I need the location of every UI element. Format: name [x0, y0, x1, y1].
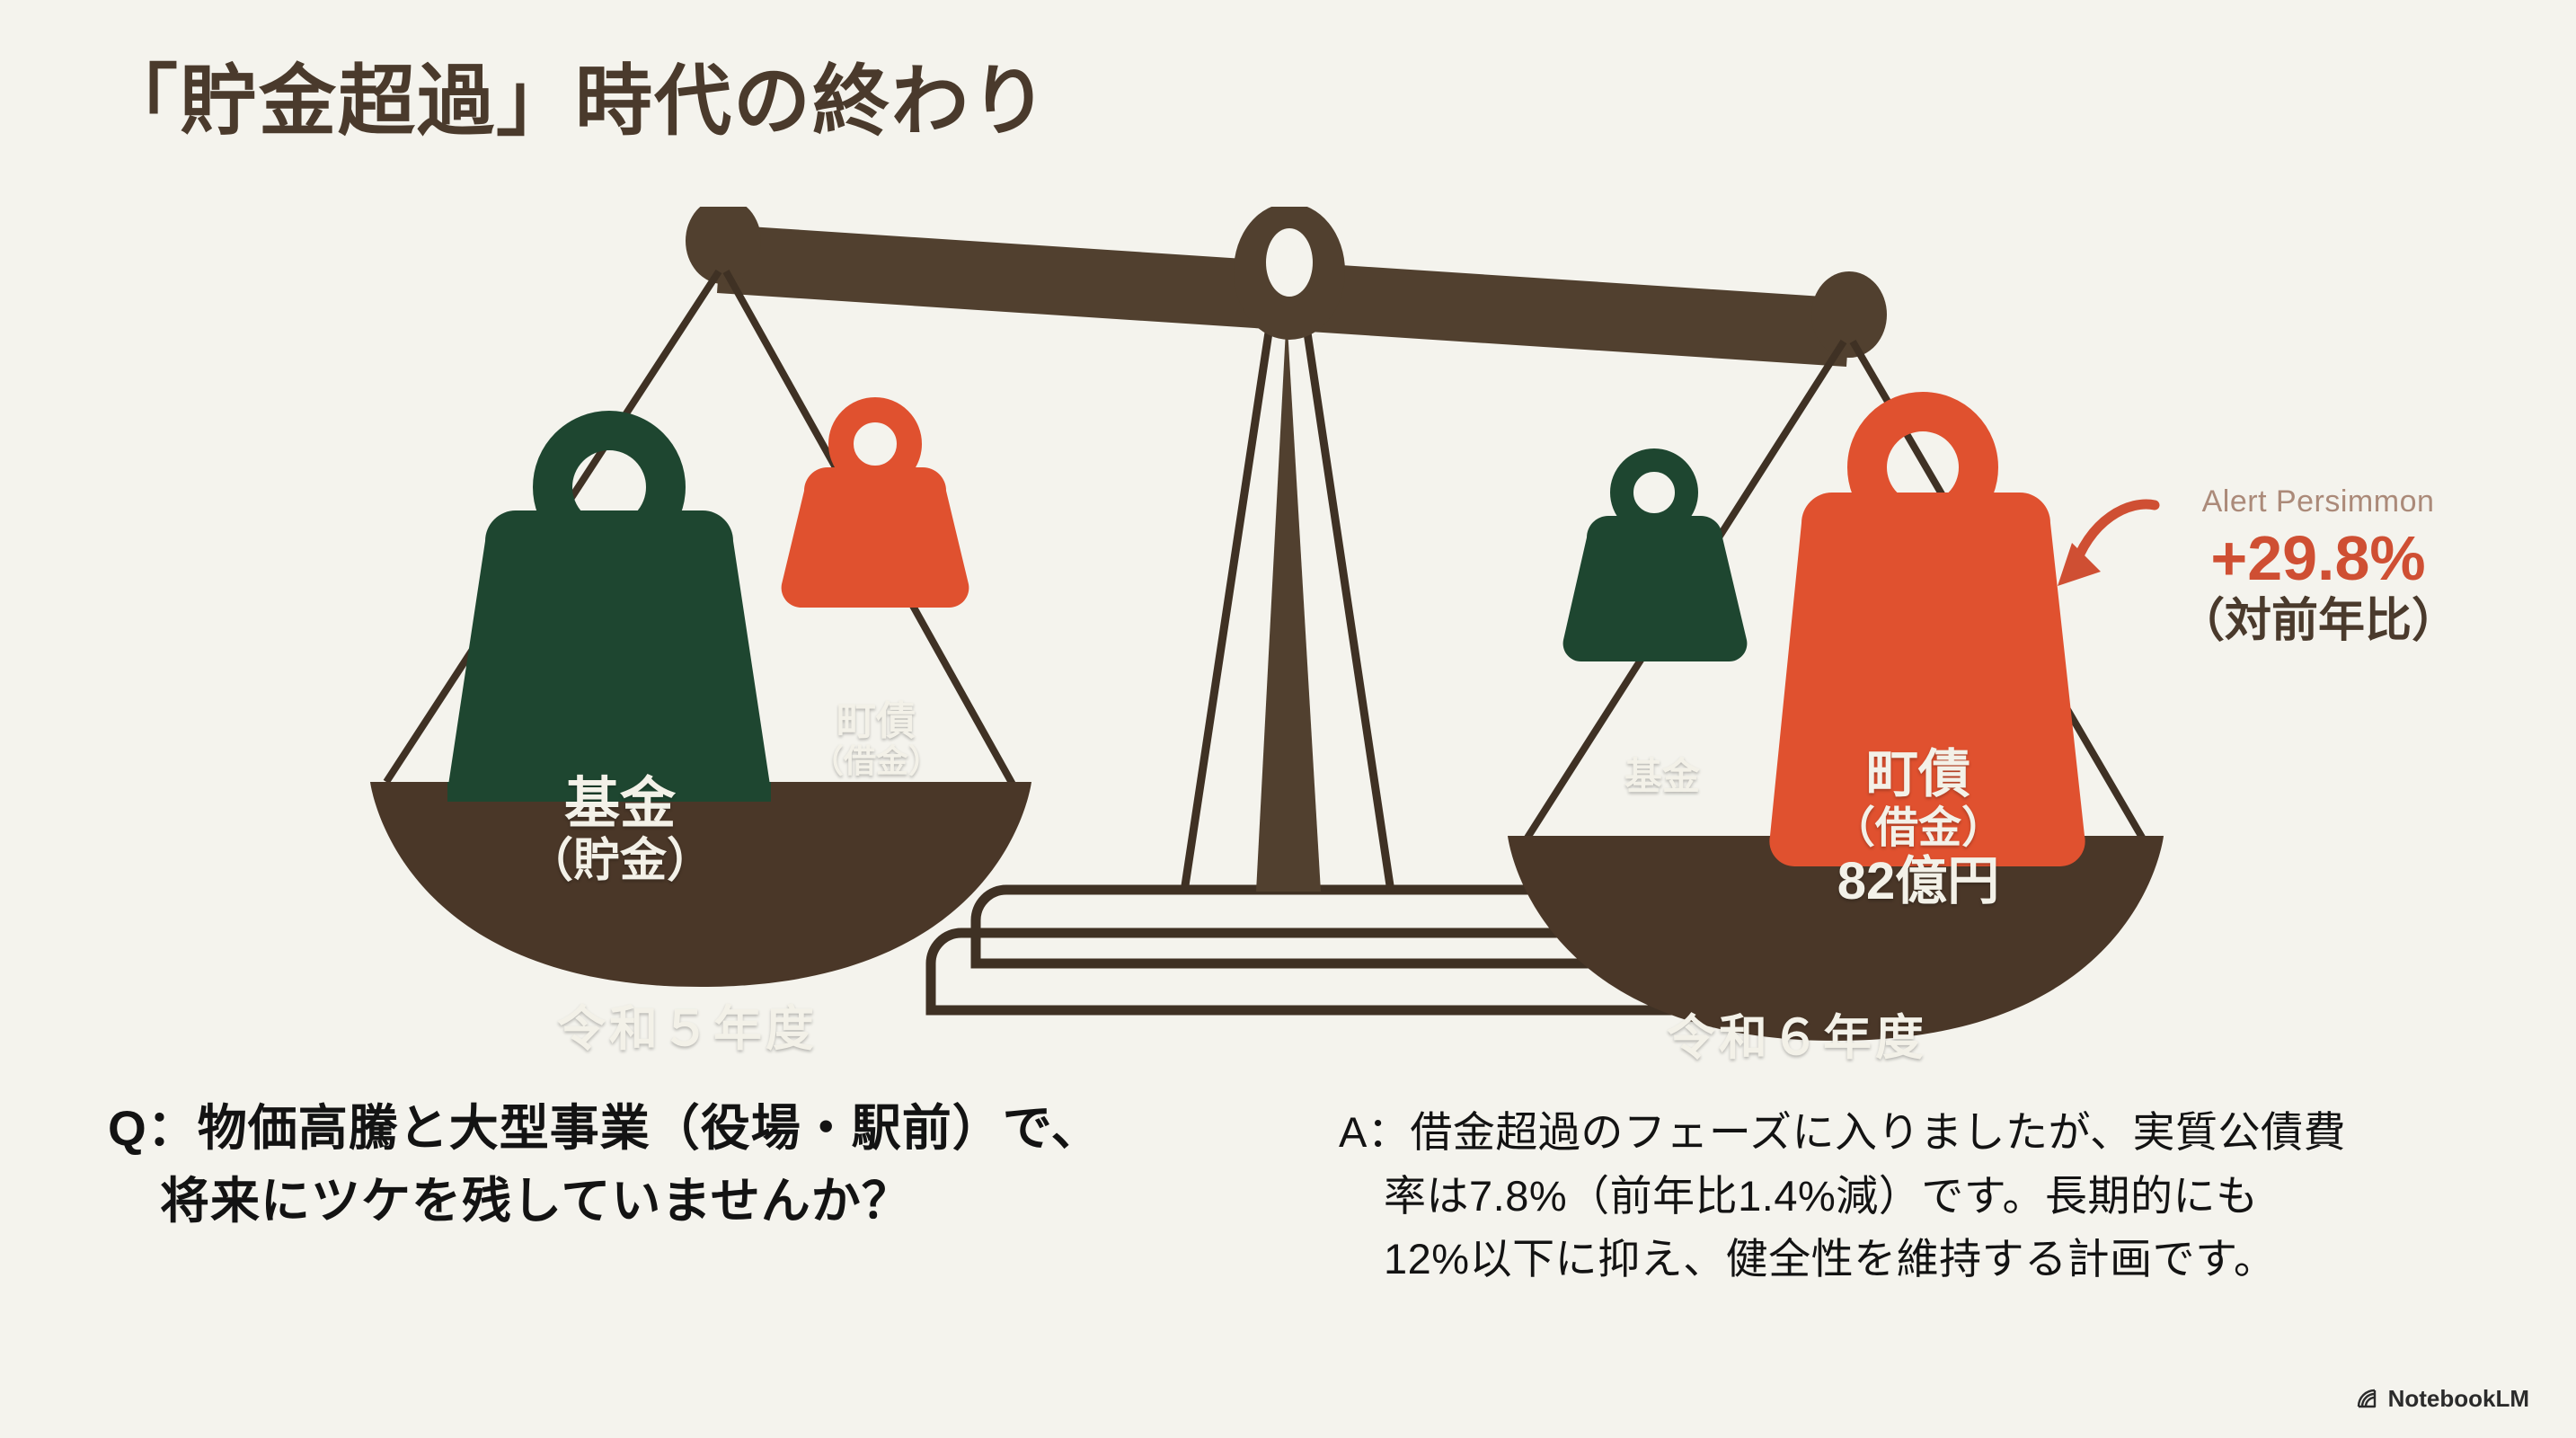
qa-section: Q：物価高騰と大型事業（役場・駅前）で、 将来にツケを残していませんか？ A：借… [0, 1092, 2576, 1389]
right-bond-weight [1769, 412, 2085, 866]
answer-block: A：借金超過のフェーズに入りましたが、実質公債費 率は7.8%（前年比1.4%減… [1339, 1101, 2525, 1292]
notebooklm-logo-icon [2355, 1387, 2380, 1412]
question-line-2: 将来にツケを残していませんか？ [108, 1165, 1303, 1238]
notebooklm-watermark: NotebookLM [2355, 1385, 2529, 1413]
answer-line-1: A：借金超過のフェーズに入りましたが、実質公債費 [1339, 1108, 2346, 1156]
right-fund-weight [1563, 460, 1748, 661]
annotation-block: Alert Persimmon +29.8% （対前年比） [2125, 485, 2511, 649]
page-title: 「貯金超過」時代の終わり [101, 38, 1049, 150]
question-block: Q：物価高騰と大型事業（役場・駅前）で、 将来にツケを残していませんか？ [108, 1092, 1303, 1238]
annotation-value: +29.8% [2125, 522, 2511, 595]
question-line-1: Q：物価高騰と大型事業（役場・駅前）で、 [108, 1100, 1102, 1156]
scale-column [1184, 313, 1391, 892]
annotation-brand-label: Alert Persimmon [2125, 485, 2511, 519]
left-fund-weight [447, 431, 771, 802]
answer-line-2: 率は7.8%（前年比1.4%減）です。長期的にも [1339, 1165, 2525, 1229]
annotation-note: （対前年比） [2125, 595, 2511, 649]
left-bond-weight [782, 410, 969, 608]
watermark-label: NotebookLM [2388, 1385, 2529, 1413]
answer-line-3: 12%以下に抑え、健全性を維持する計画です。 [1339, 1228, 2525, 1292]
